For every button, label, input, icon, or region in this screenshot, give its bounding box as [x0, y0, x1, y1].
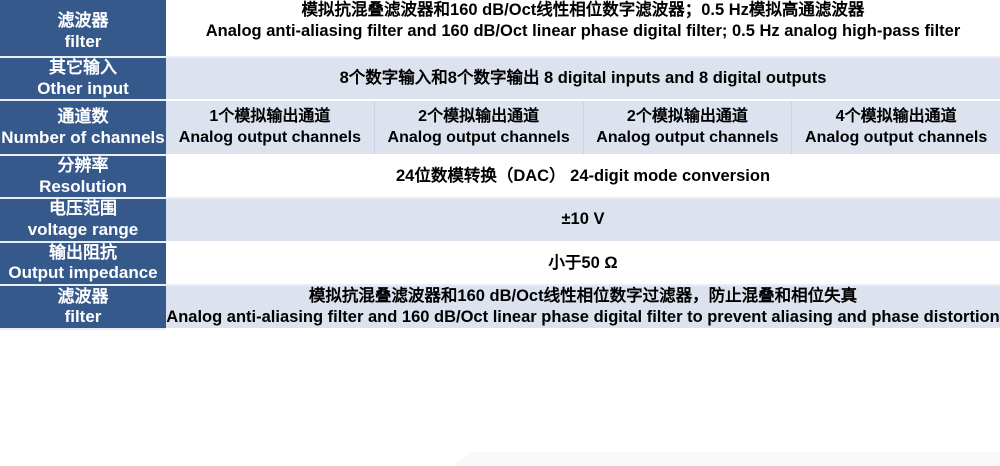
row-value-text: 8个数字输入和8个数字输出 8 digital inputs and 8 dig… — [166, 68, 1000, 89]
row-value-filter-bottom: 模拟抗混叠滤波器和160 dB/Oct线性相位数字过滤器，防止混叠和相位失真 A… — [166, 285, 1000, 329]
table-row: 输出阻抗 Output impedance 小于50 Ω — [0, 242, 1000, 285]
row-label-cn: 滤波器 — [0, 287, 166, 308]
table-row: 滤波器 filter 模拟抗混叠滤波器和160 dB/Oct线性相位数字过滤器，… — [0, 285, 1000, 329]
row-label-filter-top: 滤波器 filter — [0, 0, 166, 57]
channel-column-cn: 1个模拟输出通道 — [170, 107, 370, 127]
channel-column-en: Analog output channels — [379, 128, 579, 148]
channel-column-1: 1个模拟输出通道 Analog output channels — [166, 101, 375, 153]
channel-column-en: Analog output channels — [588, 128, 788, 148]
table-row: 通道数 Number of channels 1个模拟输出通道 Analog o… — [0, 100, 1000, 154]
row-value-number-of-channels: 1个模拟输出通道 Analog output channels 2个模拟输出通道… — [166, 100, 1000, 154]
row-value-cn: 模拟抗混叠滤波器和160 dB/Oct线性相位数字滤波器；0.5 Hz模拟高通滤… — [166, 0, 1000, 21]
row-label-filter-bottom: 滤波器 filter — [0, 285, 166, 329]
row-label-en: Other input — [0, 79, 166, 100]
row-value-text: ±10 V — [166, 209, 1000, 230]
row-label-output-impedance: 输出阻抗 Output impedance — [0, 242, 166, 285]
row-value-text: 小于50 Ω — [166, 253, 1000, 274]
row-label-cn: 电压范围 — [0, 199, 166, 220]
channel-column-en: Analog output channels — [170, 128, 370, 148]
row-label-en: filter — [0, 32, 166, 53]
channel-column-cn: 4个模拟输出通道 — [796, 107, 996, 127]
row-value-filter-top: 模拟抗混叠滤波器和160 dB/Oct线性相位数字滤波器；0.5 Hz模拟高通滤… — [166, 0, 1000, 57]
row-label-voltage-range: 电压范围 voltage range — [0, 198, 166, 241]
row-label-number-of-channels: 通道数 Number of channels — [0, 100, 166, 154]
spec-table-container: 滤波器 filter 模拟抗混叠滤波器和160 dB/Oct线性相位数字滤波器；… — [0, 0, 1000, 330]
row-label-en: Resolution — [0, 177, 166, 198]
channel-column-4: 4个模拟输出通道 Analog output channels — [792, 101, 1000, 153]
channel-column-3: 2个模拟输出通道 Analog output channels — [584, 101, 793, 153]
row-value-text: 24位数模转换（DAC） 24-digit mode conversion — [166, 166, 1000, 187]
row-value-cn: 模拟抗混叠滤波器和160 dB/Oct线性相位数字过滤器，防止混叠和相位失真 — [166, 286, 1000, 307]
row-label-other-input: 其它输入 Other input — [0, 57, 166, 100]
specification-table: 滤波器 filter 模拟抗混叠滤波器和160 dB/Oct线性相位数字滤波器；… — [0, 0, 1000, 330]
table-row: 分辨率 Resolution 24位数模转换（DAC） 24-digit mod… — [0, 155, 1000, 198]
row-value-output-impedance: 小于50 Ω — [166, 242, 1000, 285]
row-label-en: voltage range — [0, 220, 166, 241]
row-label-cn: 通道数 — [0, 107, 166, 128]
row-value-en: Analog anti-aliasing filter and 160 dB/O… — [166, 21, 1000, 42]
channel-column-en: Analog output channels — [796, 128, 996, 148]
row-label-cn: 分辨率 — [0, 156, 166, 177]
channel-column-2: 2个模拟输出通道 Analog output channels — [375, 101, 584, 153]
row-value-voltage-range: ±10 V — [166, 198, 1000, 241]
row-label-en: Output impedance — [0, 263, 166, 284]
row-label-en: Number of channels — [0, 128, 166, 149]
row-label-cn: 输出阻抗 — [0, 243, 166, 264]
row-label-resolution: 分辨率 Resolution — [0, 155, 166, 198]
row-label-cn: 滤波器 — [0, 11, 166, 32]
row-label-en: filter — [0, 307, 166, 328]
channel-column-cn: 2个模拟输出通道 — [379, 107, 579, 127]
row-label-cn: 其它输入 — [0, 58, 166, 79]
slide-bottom-diagonal-accent — [440, 452, 1000, 466]
table-row: 电压范围 voltage range ±10 V — [0, 198, 1000, 241]
row-value-other-input: 8个数字输入和8个数字输出 8 digital inputs and 8 dig… — [166, 57, 1000, 100]
row-value-resolution: 24位数模转换（DAC） 24-digit mode conversion — [166, 155, 1000, 198]
table-row: 滤波器 filter 模拟抗混叠滤波器和160 dB/Oct线性相位数字滤波器；… — [0, 0, 1000, 57]
channel-column-cn: 2个模拟输出通道 — [588, 107, 788, 127]
table-row: 其它输入 Other input 8个数字输入和8个数字输出 8 digital… — [0, 57, 1000, 100]
row-value-en: Analog anti-aliasing filter and 160 dB/O… — [166, 307, 1000, 328]
